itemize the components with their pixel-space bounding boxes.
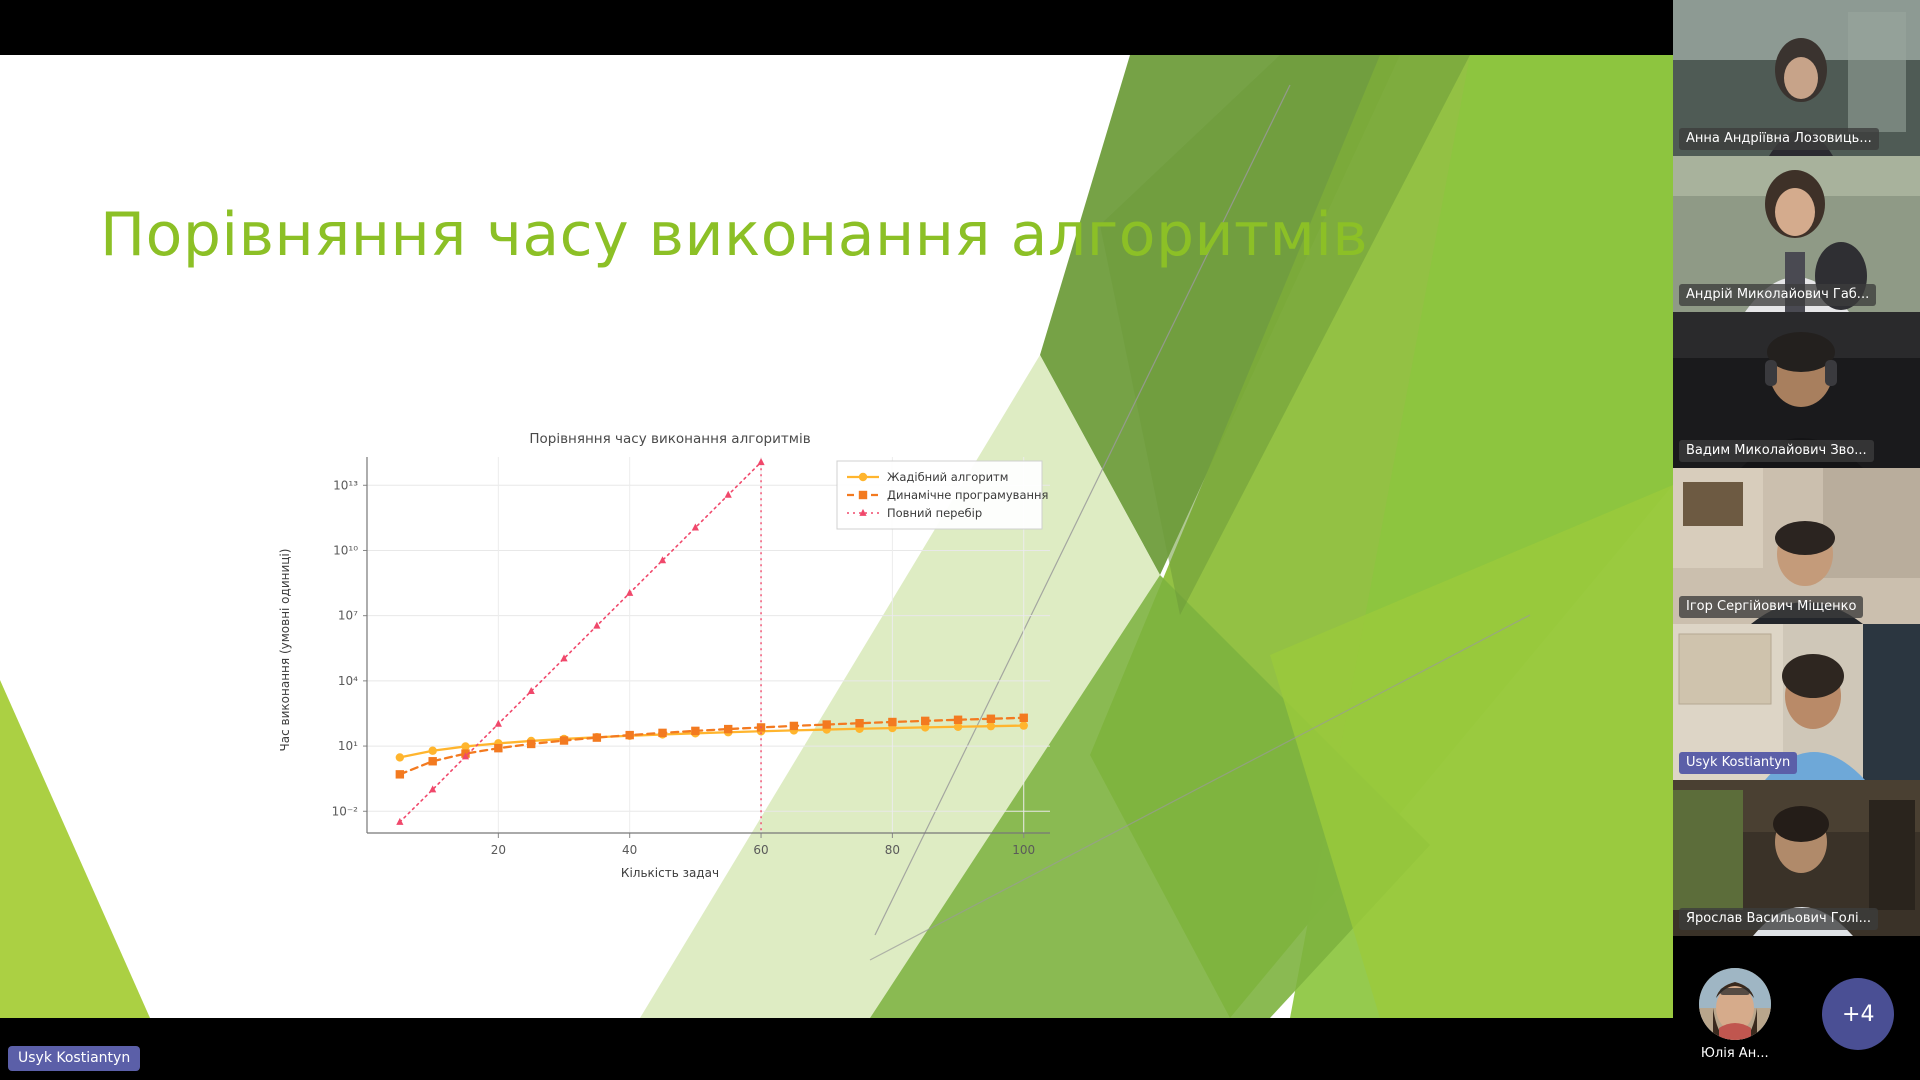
- chart-data-point: [855, 719, 863, 727]
- chart-data-point: [428, 747, 436, 755]
- chart-data-point: [1020, 721, 1028, 729]
- chart-data-point: [1020, 714, 1028, 722]
- chart-data-point: [658, 729, 666, 737]
- deco-polygon-left-wedge: [0, 680, 150, 1018]
- chart-legend-label: Повний перебір: [887, 506, 982, 520]
- participant-name-label: Usyk Kostiantyn: [1679, 752, 1797, 774]
- chart-legend-label: Жадібний алгоритм: [887, 470, 1008, 484]
- chart-data-point: [888, 718, 896, 726]
- overflow-participants-row: Юлія Ан... +4: [1673, 936, 1920, 1080]
- chart-data-point: [528, 687, 535, 694]
- chart-data-point: [921, 717, 929, 725]
- chart-data-point: [987, 715, 995, 723]
- chart-data-point: [495, 720, 502, 727]
- chart-data-point: [790, 722, 798, 730]
- shared-screen-stage[interactable]: Порівняння часу виконання алгоритмів Пор…: [0, 55, 1673, 1018]
- chart-title: Порівняння часу виконання алгоритмів: [529, 431, 810, 447]
- algorithm-runtime-chart: Порівняння часу виконання алгоритмів 10⁻…: [275, 425, 1065, 885]
- presentation-slide: Порівняння часу виконання алгоритмів Пор…: [0, 55, 1673, 1018]
- chart-y-ticks: 10⁻²10¹10⁴10⁷10¹⁰10¹³: [332, 478, 359, 818]
- more-participants-count: +4: [1822, 978, 1894, 1050]
- chart-data-point: [494, 744, 502, 752]
- chart-data-point: [724, 725, 732, 733]
- participant-tile[interactable]: Ігор Сергійович Міщенко: [1673, 468, 1920, 624]
- chart-y-tick-label: 10¹³: [333, 478, 358, 492]
- participant-tile-active-speaker[interactable]: Usyk Kostiantyn: [1673, 624, 1920, 780]
- chart-x-tick-label: 100: [1012, 843, 1035, 857]
- self-name-chip: Usyk Kostiantyn: [8, 1046, 140, 1071]
- participant-name-label: Ярослав Васильович Голі...: [1679, 908, 1878, 930]
- chart-y-tick-label: 10⁻²: [332, 804, 359, 818]
- chart-data-point: [625, 731, 633, 739]
- participant-tile[interactable]: Андрій Миколайович Габ...: [1673, 156, 1920, 312]
- chart-data-point: [987, 722, 995, 730]
- participant-name-label: Ігор Сергійович Міщенко: [1679, 596, 1863, 618]
- chart-data-point: [593, 733, 601, 741]
- overflow-participant[interactable]: Юлія Ан...: [1681, 949, 1789, 1079]
- chart-data-point: [626, 589, 633, 596]
- chart-data-point: [659, 556, 666, 563]
- chart-data-point: [560, 736, 568, 744]
- chart-data-point: [396, 770, 404, 778]
- chart-data-point: [396, 818, 403, 825]
- overflow-participant-name: Юлія Ан...: [1701, 1046, 1769, 1061]
- participant-name-label: Андрій Миколайович Габ...: [1679, 284, 1876, 306]
- avatar-photo: [1699, 968, 1771, 1040]
- chart-x-tick-label: 40: [622, 843, 637, 857]
- chart-series-line: [400, 462, 761, 822]
- chart-x-axis-label: Кількість задач: [621, 866, 719, 880]
- chart-y-tick-label: 10⁴: [338, 674, 358, 688]
- chart-data-point: [954, 716, 962, 724]
- chart-y-axis-label: Час виконання (умовні одиниці): [278, 549, 292, 752]
- meeting-screen-share-window: Порівняння часу виконання алгоритмів Пор…: [0, 0, 1920, 1080]
- chart-x-tick-label: 60: [753, 843, 768, 857]
- chart-data-point: [396, 753, 404, 761]
- chart-x-tick-label: 20: [491, 843, 506, 857]
- participant-tile[interactable]: Анна Андріївна Лозовиць...: [1673, 0, 1920, 156]
- chart-y-tick-label: 10¹⁰: [333, 543, 358, 557]
- chart-data-point: [527, 740, 535, 748]
- chart-legend-label: Динамічне програмування: [887, 488, 1048, 502]
- chart-data-point: [461, 742, 469, 750]
- chart-x-tick-label: 80: [885, 843, 900, 857]
- slide-title: Порівняння часу виконання алгоритмів: [100, 200, 1368, 270]
- participant-name-label: Вадим Миколайович Зво...: [1679, 440, 1874, 462]
- chart-legend: Жадібний алгоритмДинамічне програмування…: [837, 461, 1048, 529]
- participant-rail: Анна Андріївна Лозовиць... Андрій Микола…: [1673, 0, 1920, 1080]
- participant-tile[interactable]: Ярослав Васильович Голі...: [1673, 780, 1920, 936]
- participant-tile[interactable]: Вадим Миколайович Зво...: [1673, 312, 1920, 468]
- chart-data-point: [691, 727, 699, 735]
- more-participants-button[interactable]: +4: [1804, 949, 1912, 1079]
- chart-data-point: [428, 757, 436, 765]
- chart-data-point: [823, 720, 831, 728]
- avatar: [1699, 968, 1771, 1040]
- chart-svg: Порівняння часу виконання алгоритмів 10⁻…: [275, 425, 1065, 885]
- chart-x-ticks: 20406080100: [491, 843, 1035, 857]
- chart-y-tick-label: 10¹: [338, 739, 358, 753]
- chart-y-tick-label: 10⁷: [338, 609, 358, 623]
- participant-name-label: Анна Андріївна Лозовиць...: [1679, 128, 1879, 150]
